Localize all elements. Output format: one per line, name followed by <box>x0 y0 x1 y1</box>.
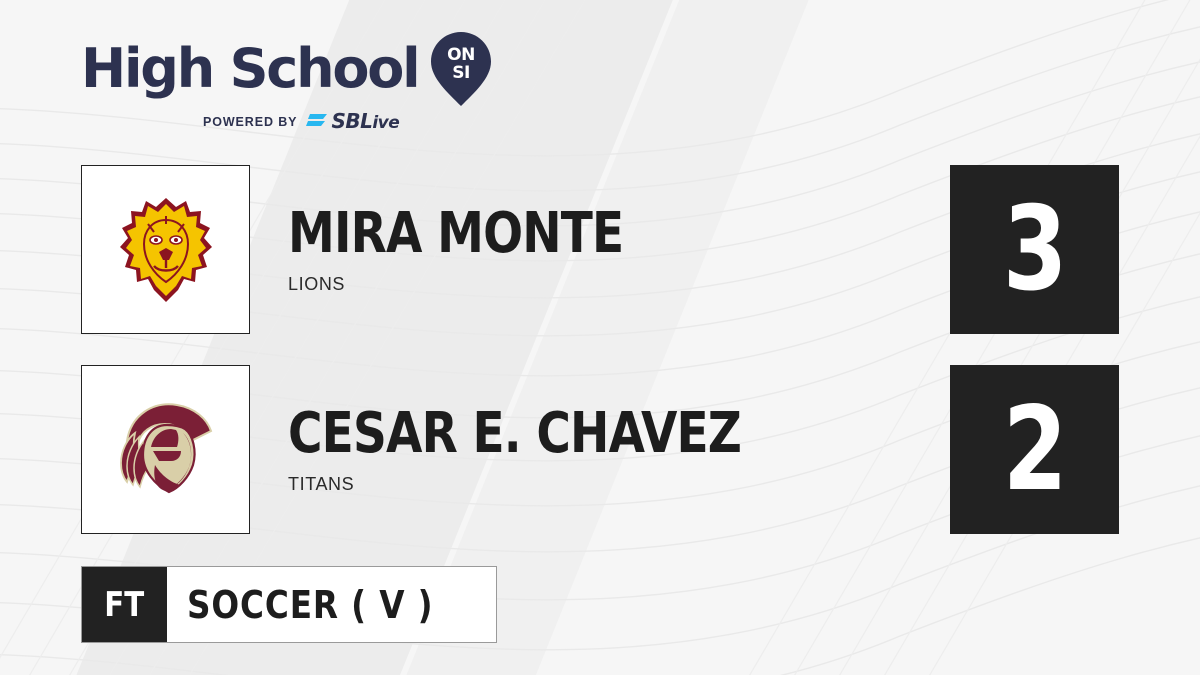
status-badge-label: FT <box>105 585 145 625</box>
team-logo-box <box>81 365 250 534</box>
team-name: MIRA MONTE <box>288 204 844 264</box>
svg-text:ON: ON <box>448 45 476 65</box>
team-mascot: LIONS <box>288 274 950 295</box>
team-score: 3 <box>1003 192 1066 308</box>
scoreboard-graphic: High School ON SI POWERED BY SBLive <box>0 0 1200 675</box>
powered-by-label: POWERED BY <box>203 115 297 129</box>
team-logo-box <box>81 165 250 334</box>
team-score-box: 2 <box>950 365 1119 534</box>
lion-head-logo-icon <box>106 190 226 310</box>
status-badge: FT <box>82 567 167 642</box>
team-score: 2 <box>1003 392 1066 508</box>
sblive-wordmark: SBLive <box>331 111 399 133</box>
svg-text:SI: SI <box>453 63 471 83</box>
game-status-bar: FT SOCCER ( V ) <box>81 566 497 643</box>
team-score-box: 3 <box>950 165 1119 334</box>
team-row: CESAR E. CHAVEZ TITANS 2 <box>81 365 1119 534</box>
brand-header: High School ON SI POWERED BY SBLive <box>81 36 511 140</box>
team-row: MIRA MONTE LIONS 3 <box>81 165 1119 334</box>
sport-label: SOCCER ( V ) <box>187 583 433 627</box>
sblive-logo: SBLive <box>306 111 399 133</box>
sblive-s-icon <box>306 112 328 132</box>
sblive-word-upper: SBL <box>331 109 372 133</box>
titan-helmet-logo-icon <box>105 389 227 511</box>
team-info: MIRA MONTE LIONS <box>250 204 950 295</box>
brand-title-row: High School ON SI <box>81 36 511 102</box>
team-mascot: TITANS <box>288 474 950 495</box>
team-name: CESAR E. CHAVEZ <box>288 404 844 464</box>
sport-label-box: SOCCER ( V ) <box>167 567 496 642</box>
sblive-word-lower: ive <box>372 113 399 133</box>
team-info: CESAR E. CHAVEZ TITANS <box>250 404 950 495</box>
on-si-pin-icon: ON SI <box>430 31 492 107</box>
powered-by-row: POWERED BY SBLive <box>203 111 511 133</box>
page-title: High School <box>81 40 418 98</box>
